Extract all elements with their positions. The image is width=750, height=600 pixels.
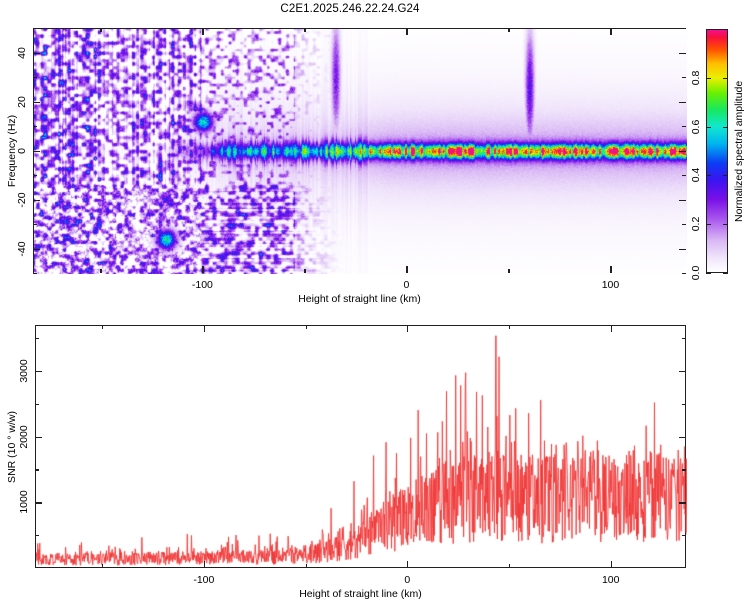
axis-tick xyxy=(304,269,305,273)
axis-tick xyxy=(33,249,40,250)
axis-tick xyxy=(706,175,711,176)
axis-tick xyxy=(33,175,37,176)
axis-tick xyxy=(679,249,686,250)
axis-tick xyxy=(204,561,205,568)
axis-tick xyxy=(723,224,728,225)
axis-tick xyxy=(679,502,686,503)
axis-tick xyxy=(304,28,305,32)
y-tick-label: -20 xyxy=(16,192,28,207)
axis-tick xyxy=(35,502,42,503)
axis-tick xyxy=(610,28,611,35)
axis-tick xyxy=(100,269,101,273)
axis-tick xyxy=(33,77,37,78)
axis-tick xyxy=(306,564,307,568)
y-tick-label: 2000 xyxy=(18,425,30,448)
snr-x-axis-title: Height of straight line (km) xyxy=(299,588,422,600)
snr-panel[interactable] xyxy=(35,325,686,568)
axis-tick xyxy=(33,200,40,201)
axis-tick xyxy=(33,53,40,54)
axis-tick xyxy=(723,273,728,274)
axis-tick xyxy=(679,151,686,152)
axis-tick xyxy=(407,561,408,568)
axis-tick xyxy=(706,273,711,274)
axis-tick xyxy=(679,437,686,438)
x-tick-label: -100 xyxy=(193,574,214,586)
colorbar[interactable] xyxy=(706,29,728,273)
axis-tick xyxy=(35,469,39,470)
colorbar-title: Normalized spectral amplitude xyxy=(733,33,745,269)
x-tick-label: 100 xyxy=(602,279,620,291)
colorbar-tick-label: 0.2 xyxy=(690,217,702,232)
colorbar-tick-label: 0.0 xyxy=(690,266,702,281)
axis-tick xyxy=(682,28,686,29)
x-tick-label: -100 xyxy=(192,279,213,291)
axis-tick xyxy=(100,28,101,32)
axis-tick xyxy=(679,102,686,103)
colorbar-gradient xyxy=(707,30,727,272)
axis-tick xyxy=(33,126,37,127)
colorbar-tick-label: 0.4 xyxy=(690,168,702,183)
axis-tick xyxy=(407,325,408,332)
snr-trace xyxy=(36,326,687,569)
spectrogram-x-axis-title: Height of straight line (km) xyxy=(298,293,421,305)
x-tick-label: 0 xyxy=(404,574,410,586)
axis-tick xyxy=(679,200,686,201)
axis-tick xyxy=(35,437,42,438)
y-tick-label: 3000 xyxy=(18,359,30,382)
axis-tick xyxy=(508,269,509,273)
axis-tick xyxy=(202,28,203,35)
axis-tick xyxy=(33,224,37,225)
axis-tick xyxy=(611,325,612,332)
colorbar-tick-label: 0.6 xyxy=(690,119,702,134)
axis-tick xyxy=(406,28,407,35)
axis-tick xyxy=(202,266,203,273)
axis-tick xyxy=(509,564,510,568)
axis-tick xyxy=(35,371,42,372)
axis-tick xyxy=(679,53,686,54)
y-tick-label: 40 xyxy=(16,47,28,59)
y-tick-label: 20 xyxy=(16,96,28,108)
axis-tick xyxy=(102,325,103,329)
axis-tick xyxy=(706,127,711,128)
axis-tick xyxy=(679,371,686,372)
axis-tick xyxy=(33,28,37,29)
y-tick-label: 1000 xyxy=(18,491,30,514)
axis-tick xyxy=(406,266,407,273)
axis-tick xyxy=(35,404,39,405)
axis-tick xyxy=(682,175,686,176)
axis-tick xyxy=(33,102,40,103)
axis-tick xyxy=(102,564,103,568)
axis-tick xyxy=(204,325,205,332)
axis-tick xyxy=(723,78,728,79)
axis-tick xyxy=(610,266,611,273)
axis-tick xyxy=(682,535,686,536)
axis-tick xyxy=(508,28,509,32)
axis-tick xyxy=(682,469,686,470)
axis-tick xyxy=(611,561,612,568)
axis-tick xyxy=(682,126,686,127)
axis-tick xyxy=(706,78,711,79)
figure-title: C2E1.2025.246.22.24.G24 xyxy=(0,3,700,15)
axis-tick xyxy=(35,535,39,536)
axis-tick xyxy=(723,127,728,128)
axis-tick xyxy=(682,338,686,339)
snr-y-axis-title: SNR (10 ° w/w) xyxy=(6,411,18,483)
axis-tick xyxy=(682,273,686,274)
axis-tick xyxy=(682,77,686,78)
colorbar-tick-label: 0.8 xyxy=(690,70,702,85)
axis-tick xyxy=(706,224,711,225)
spectrogram-panel[interactable] xyxy=(33,28,686,273)
spectrogram-image xyxy=(34,29,687,274)
axis-tick xyxy=(723,175,728,176)
x-tick-label: 100 xyxy=(602,574,620,586)
axis-tick xyxy=(33,273,37,274)
spectrogram-y-axis-title: Frequency (Hz) xyxy=(6,114,18,186)
axis-tick xyxy=(35,338,39,339)
axis-tick xyxy=(33,151,40,152)
y-tick-label: -40 xyxy=(16,241,28,256)
axis-tick xyxy=(682,224,686,225)
axis-tick xyxy=(682,404,686,405)
x-tick-label: 0 xyxy=(404,279,410,291)
axis-tick xyxy=(509,325,510,329)
axis-tick xyxy=(306,325,307,329)
